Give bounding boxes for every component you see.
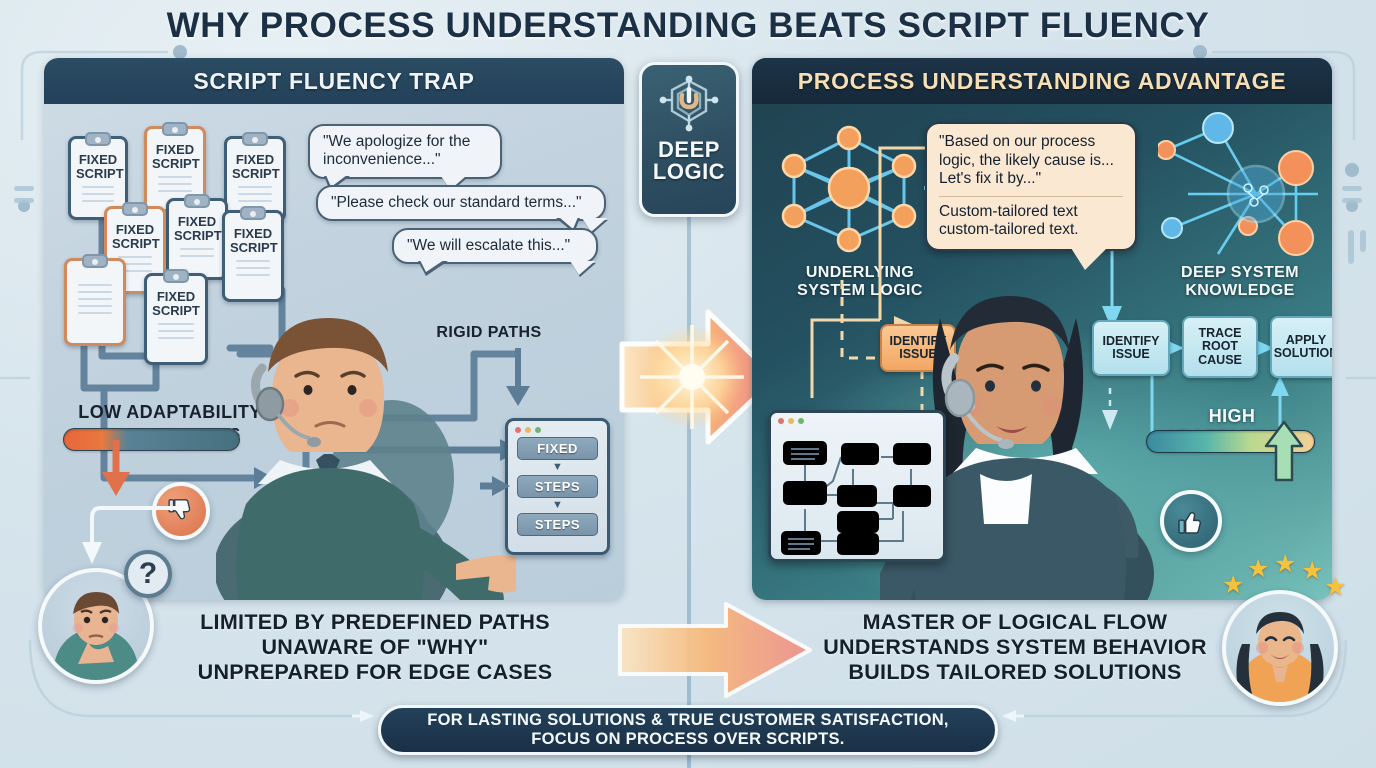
low-adaptability-meter [63, 428, 240, 451]
clipboard-lines [152, 323, 200, 339]
window-dots [775, 417, 939, 427]
speech-bubble-quote: "Based on our process logic, the likely … [939, 133, 1123, 189]
thumbs-up-icon [1160, 490, 1222, 552]
clipboard-clip-icon [163, 269, 189, 283]
clipboard-label-line2: SCRIPT [112, 236, 160, 251]
infographic-root: WHY PROCESS UNDERSTANDING BEATS SCRIPT F… [0, 0, 1376, 768]
clipboard-clip-icon [162, 122, 188, 136]
bottom-banner: FOR LASTING SOLUTIONS & TRUE CUSTOMER SA… [378, 705, 998, 755]
clipboard-lines [232, 186, 278, 202]
bottom-banner-line-1: FOR LASTING SOLUTIONS & TRUE CUSTOMER SA… [427, 711, 949, 730]
speech-bubble-escalate: "We will escalate this..." [392, 228, 598, 264]
deep-logic-label: DEEP LOGIC [653, 139, 725, 184]
right-outcome-line-3: BUILDS TAILORED SOLUTIONS [800, 660, 1230, 685]
right-outcome-line-1: MASTER OF LOGICAL FLOW [800, 610, 1230, 635]
star-icon: ★ [1222, 570, 1244, 600]
step-chip-steps-2: STEPS [517, 513, 597, 536]
clipboard-clip-icon [82, 254, 108, 268]
star-icon: ★ [1274, 549, 1296, 579]
speech-bubble-process-logic: "Based on our process logic, the likely … [925, 122, 1137, 251]
clipboard-label-line2: SCRIPT [152, 303, 200, 318]
process-flowchart-monitor [768, 410, 946, 562]
up-arrow-icon [1264, 418, 1312, 484]
left-outcome-line-2: UNAWARE OF "WHY" [160, 635, 590, 660]
step-chip-fixed: FIXED [517, 437, 597, 460]
speech-bubble-text: "We apologize for the inconvenience..." [323, 133, 470, 168]
left-outcome-caption: LIMITED BY PREDEFINED PATHS UNAWARE OF "… [160, 610, 590, 685]
deep-logic-line-1: DEEP [653, 139, 725, 161]
clipboard-lines [174, 248, 220, 257]
bottom-banner-line-2: FOCUS ON PROCESS OVER SCRIPTS. [427, 730, 949, 749]
window-dots [512, 425, 603, 437]
clipboard-blank [64, 258, 126, 346]
speech-bubble-subtext: Custom-tailored text custom-tailored tex… [939, 203, 1123, 240]
deep-logic-circuit-icon [658, 75, 720, 135]
clipboard-label-line2: SCRIPT [230, 240, 278, 255]
right-outcome-line-2: UNDERSTANDS SYSTEM BEHAVIOR [800, 635, 1230, 660]
clipboard-label-line2: SCRIPT [232, 166, 280, 181]
thumbs-up-glyph [1175, 505, 1207, 537]
speech-bubble-text: "We will escalate this..." [407, 237, 570, 254]
clipboard-label-line2: SCRIPT [174, 228, 222, 243]
process-step-label: TRACE ROOT CAUSE [1187, 327, 1253, 366]
process-step-apply-solution: APPLY SOLUTION [1270, 316, 1332, 378]
speech-bubble-apology: "We apologize for the inconvenience..." [308, 124, 502, 179]
step-down-arrow-icon: ▼ [512, 462, 603, 473]
down-arrow-icon [100, 440, 150, 502]
frustrated-agent-illustration [216, 268, 516, 600]
star-icon: ★ [1324, 572, 1346, 602]
left-outcome-line-3: UNPREPARED FOR EDGE CASES [160, 660, 590, 685]
left-arrow-into-tablet-icon [470, 468, 518, 508]
star-icon: ★ [1247, 554, 1269, 584]
step-down-arrow-icon: ▼ [512, 500, 603, 511]
process-step-trace-root-cause: TRACE ROOT CAUSE [1182, 316, 1258, 378]
deep-logic-badge: DEEP LOGIC [639, 62, 739, 217]
clipboard-clip-icon [122, 202, 148, 216]
clipboard-label-line2: SCRIPT [152, 156, 200, 171]
clipboard-lines [76, 186, 120, 202]
star-icon: ★ [1301, 556, 1323, 586]
bubble-divider [939, 196, 1123, 197]
arrow-to-avatar [60, 498, 190, 578]
deep-logic-line-2: LOGIC [653, 161, 725, 183]
clipboard-clip-icon [242, 132, 268, 146]
right-outcome-caption: MASTER OF LOGICAL FLOW UNDERSTANDS SYSTE… [800, 610, 1230, 685]
clipboard-fixed-script: FIXEDSCRIPT [144, 273, 208, 365]
happy-customer-avatar [1222, 590, 1338, 706]
clipboard-lines [152, 176, 198, 192]
fixed-steps-tablet: FIXED ▼ STEPS ▼ STEPS [505, 418, 610, 555]
clipboard-clip-icon [184, 194, 210, 208]
clipboard-clip-icon [240, 206, 266, 220]
speech-bubble-text: "Please check our standard terms..." [331, 194, 582, 211]
clipboard-lines [72, 284, 118, 314]
flowchart-diagram [775, 433, 941, 557]
avatar-illustration [1226, 594, 1334, 702]
step-chip-steps-1: STEPS [517, 475, 597, 498]
clipboard-label-line2: SCRIPT [76, 166, 124, 181]
speech-bubble-standard-terms: "Please check our standard terms..." [316, 185, 606, 221]
clipboard-clip-icon [85, 132, 111, 146]
page-title: WHY PROCESS UNDERSTANDING BEATS SCRIPT F… [0, 6, 1376, 46]
process-step-label: APPLY SOLUTION [1274, 334, 1332, 360]
left-outcome-line-1: LIMITED BY PREDEFINED PATHS [160, 610, 590, 635]
